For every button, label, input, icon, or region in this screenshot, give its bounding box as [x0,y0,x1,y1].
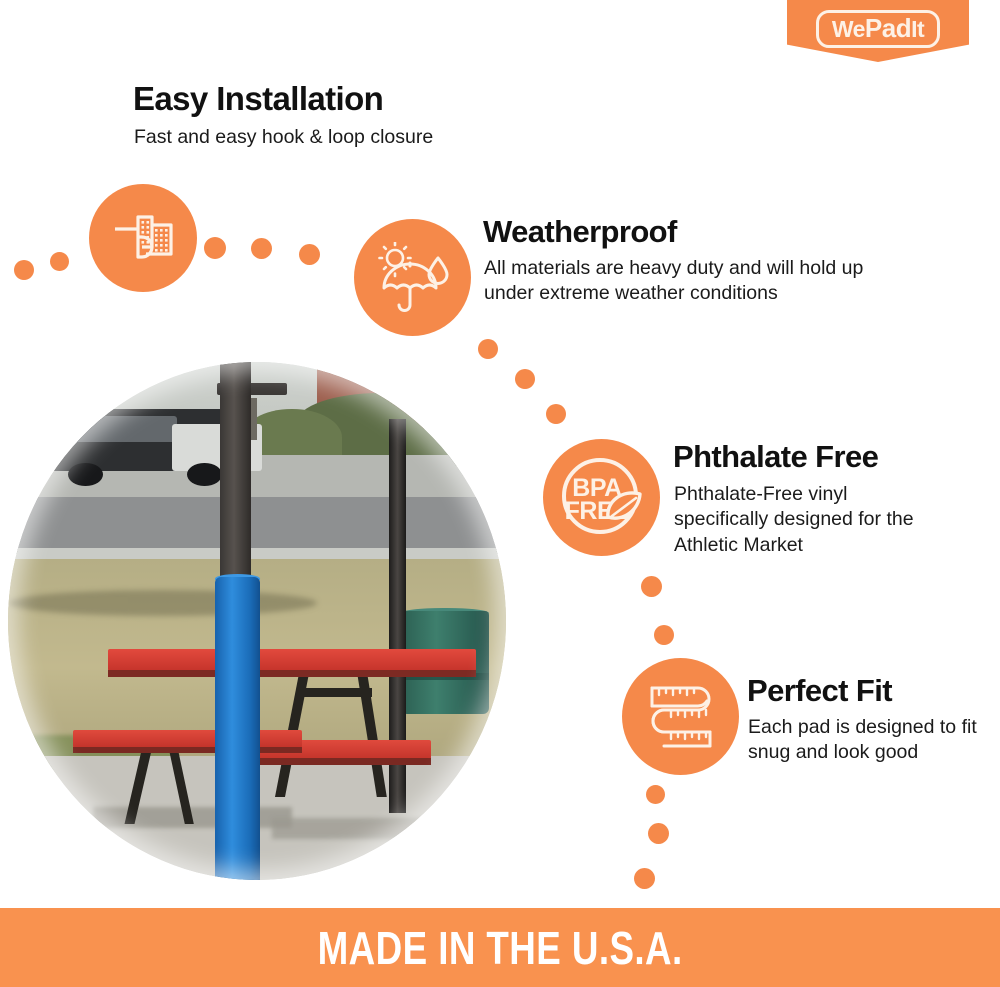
infographic-page: WePadIt Easy Installation Fast and easy … [0,0,1000,987]
path-dot [634,868,655,889]
path-dot [515,369,535,389]
feature-description-phthalate-free: Phthalate-Free vinyl specifically design… [674,482,944,558]
brand-text-it: It [911,16,924,42]
made-in-usa-text: MADE IN THE U.S.A. [318,921,683,975]
feature-title-perfect-fit: Perfect Fit [747,673,892,709]
measuring-tape-icon [622,658,739,775]
sun-umbrella-raindrop-icon [354,219,471,336]
made-in-usa-banner: MADE IN THE U.S.A. [0,908,1000,987]
path-dot [646,785,665,804]
brand-logo-badge: WePadIt [787,0,969,62]
path-dot [641,576,662,597]
product-photo [8,362,506,880]
path-dot [654,625,674,645]
path-dot [251,238,272,259]
photo-vignette [8,362,506,880]
feature-title-easy-installation: Easy Installation [133,80,383,118]
brand-text-pad: Pad [865,13,911,43]
path-dot [50,252,69,271]
feature-description-easy-installation: Fast and easy hook & loop closure [134,125,433,150]
feature-description-weatherproof: All materials are heavy duty and will ho… [484,256,904,307]
feature-title-weatherproof: Weatherproof [483,214,677,250]
path-dot [299,244,320,265]
path-dot [478,339,498,359]
path-dot [648,823,669,844]
brand-logo-frame: WePadIt [816,10,940,48]
hook-and-loop-icon [89,184,197,292]
feature-title-phthalate-free: Phthalate Free [673,439,878,475]
brand-text-we: We [832,16,865,42]
path-dot [546,404,566,424]
path-dot [204,237,226,259]
feature-description-perfect-fit: Each pad is designed to fit snug and loo… [748,715,978,766]
path-dot [14,260,34,280]
bpa-free-leaf-icon: BPA FREE [543,439,660,556]
